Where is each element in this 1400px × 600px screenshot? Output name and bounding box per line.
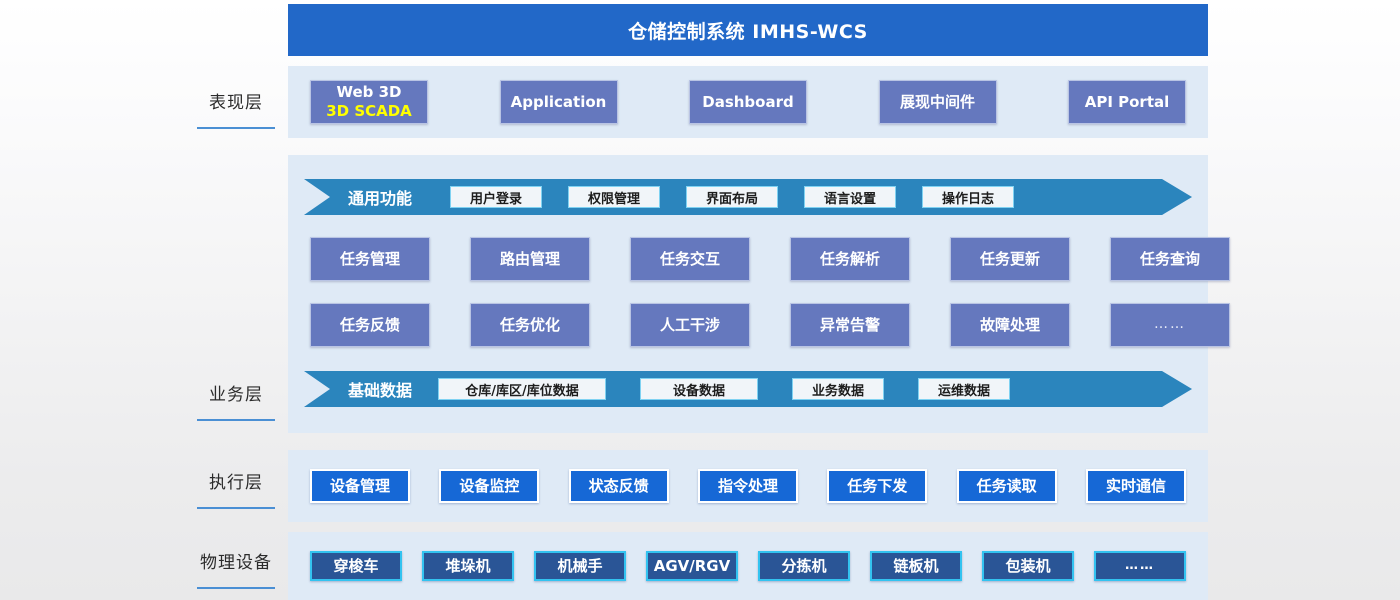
architecture-diagram: 仓储控制系统 IMHS-WCS 表现层 业务层 执行层 物理设备 Web 3D … <box>0 0 1400 600</box>
system-title-bar: 仓储控制系统 IMHS-WCS <box>288 4 1208 56</box>
layer-label-presentation: 表现层 <box>186 88 286 129</box>
presentation-item-application[interactable]: Application <box>500 80 618 124</box>
layer-label-rail: 表现层 业务层 执行层 物理设备 <box>186 0 286 600</box>
presentation-item-middleware[interactable]: 展现中间件 <box>879 80 997 124</box>
chip-equipment-data[interactable]: 设备数据 <box>640 378 758 400</box>
chip-business-data[interactable]: 业务数据 <box>792 378 884 400</box>
task-box-more[interactable]: …… <box>1110 303 1230 347</box>
common-functions-band: 通用功能 用户登录 权限管理 界面布局 语言设置 操作日志 <box>304 179 1192 215</box>
task-box[interactable]: 路由管理 <box>470 237 590 281</box>
task-box[interactable]: 任务更新 <box>950 237 1070 281</box>
underline-business <box>197 419 275 421</box>
underline-execution <box>197 507 275 509</box>
chip-user-login[interactable]: 用户登录 <box>450 186 542 208</box>
task-box[interactable]: 任务优化 <box>470 303 590 347</box>
device-box[interactable]: 堆垛机 <box>422 551 514 581</box>
page-title: 仓储控制系统 IMHS-WCS <box>628 17 868 44</box>
execution-box[interactable]: 设备管理 <box>310 469 410 503</box>
execution-box[interactable]: 实时通信 <box>1086 469 1186 503</box>
execution-box[interactable]: 任务下发 <box>827 469 927 503</box>
chip-ops-data[interactable]: 运维数据 <box>918 378 1010 400</box>
presentation-layer-panel: Web 3D 3D SCADA Application Dashboard 展现… <box>288 66 1208 138</box>
underline-physical <box>197 587 275 589</box>
device-box[interactable]: AGV/RGV <box>646 551 738 581</box>
device-box[interactable]: 机械手 <box>534 551 626 581</box>
task-box[interactable]: 人工干涉 <box>630 303 750 347</box>
task-box[interactable]: 任务管理 <box>310 237 430 281</box>
task-grid-row-2: 任务反馈 任务优化 人工干涉 异常告警 故障处理 …… <box>310 303 1230 347</box>
layer-label-business: 业务层 <box>186 380 286 421</box>
device-box[interactable]: 包装机 <box>982 551 1074 581</box>
task-box[interactable]: 任务反馈 <box>310 303 430 347</box>
presentation-item-dashboard[interactable]: Dashboard <box>689 80 807 124</box>
base-data-band: 基础数据 仓库/库区/库位数据 设备数据 业务数据 运维数据 <box>304 371 1192 407</box>
execution-box[interactable]: 指令处理 <box>698 469 798 503</box>
chip-language[interactable]: 语言设置 <box>804 186 896 208</box>
task-box[interactable]: 异常告警 <box>790 303 910 347</box>
execution-box[interactable]: 任务读取 <box>957 469 1057 503</box>
execution-box[interactable]: 状态反馈 <box>569 469 669 503</box>
execution-layer-panel: 设备管理 设备监控 状态反馈 指令处理 任务下发 任务读取 实时通信 <box>288 450 1208 522</box>
layer-label-physical: 物理设备 <box>186 548 286 589</box>
task-grid-row-1: 任务管理 路由管理 任务交互 任务解析 任务更新 任务查询 <box>310 237 1230 281</box>
task-box[interactable]: 任务查询 <box>1110 237 1230 281</box>
device-box[interactable]: 穿梭车 <box>310 551 402 581</box>
task-box[interactable]: 故障处理 <box>950 303 1070 347</box>
chip-layout[interactable]: 界面布局 <box>686 186 778 208</box>
physical-device-panel: 穿梭车 堆垛机 机械手 AGV/RGV 分拣机 链板机 包装机 …… <box>288 532 1208 600</box>
device-box[interactable]: 链板机 <box>870 551 962 581</box>
chip-permission[interactable]: 权限管理 <box>568 186 660 208</box>
business-layer-panel: 通用功能 用户登录 权限管理 界面布局 语言设置 操作日志 任务管理 路由管理 … <box>288 155 1208 433</box>
device-box-more[interactable]: …… <box>1094 551 1186 581</box>
device-box[interactable]: 分拣机 <box>758 551 850 581</box>
layer-label-execution: 执行层 <box>186 468 286 509</box>
task-box[interactable]: 任务交互 <box>630 237 750 281</box>
task-box[interactable]: 任务解析 <box>790 237 910 281</box>
presentation-item-api-portal[interactable]: API Portal <box>1068 80 1186 124</box>
underline-presentation <box>197 127 275 129</box>
chip-warehouse-data[interactable]: 仓库/库区/库位数据 <box>438 378 606 400</box>
presentation-item-web3d[interactable]: Web 3D 3D SCADA <box>310 80 428 124</box>
execution-box[interactable]: 设备监控 <box>439 469 539 503</box>
chip-operation-log[interactable]: 操作日志 <box>922 186 1014 208</box>
